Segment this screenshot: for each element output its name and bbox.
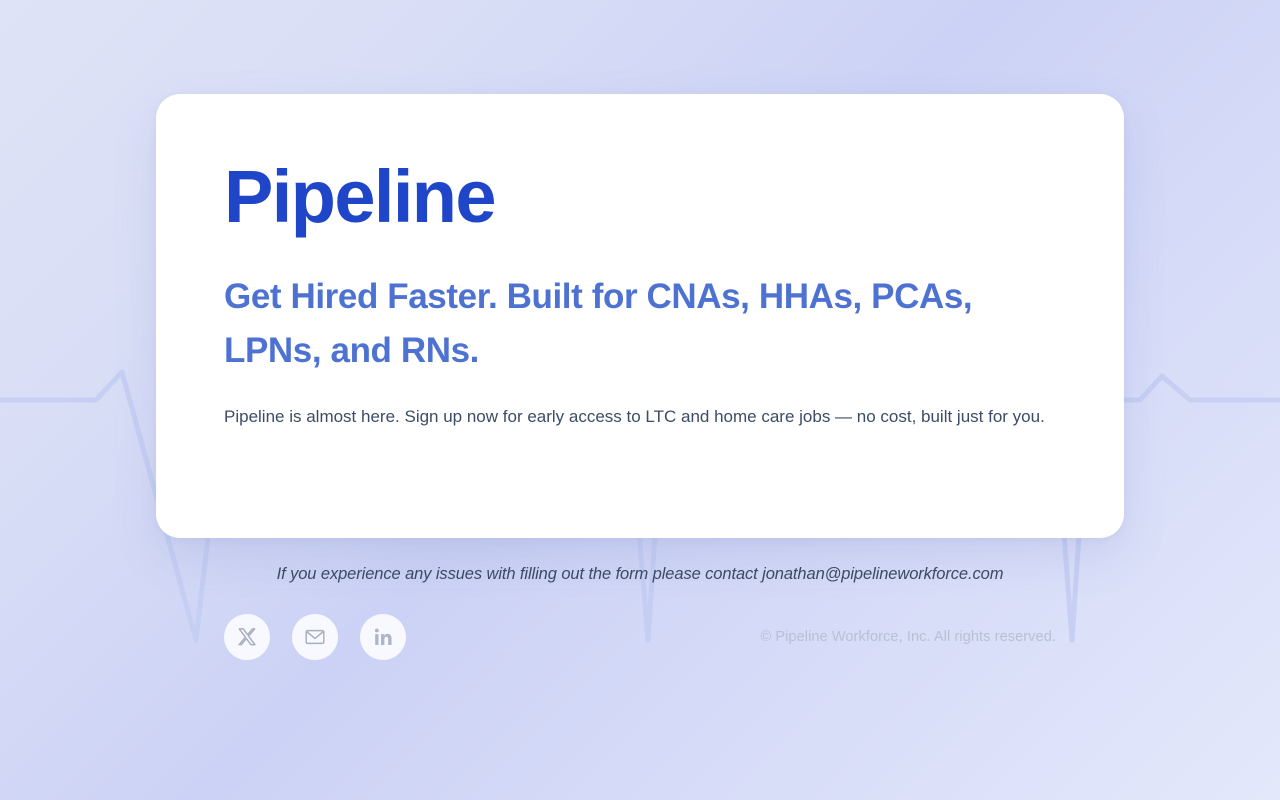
brand-logo-wordmark: Pipeline (224, 160, 1054, 234)
linkedin-icon (373, 627, 394, 648)
social-link-linkedin[interactable] (360, 614, 406, 660)
footer-row: © Pipeline Workforce, Inc. All rights re… (0, 614, 1280, 660)
envelope-icon (304, 626, 326, 648)
social-links (224, 614, 406, 660)
hero-card: Pipeline Get Hired Faster. Built for CNA… (156, 94, 1124, 538)
social-link-email[interactable] (292, 614, 338, 660)
social-link-x-twitter[interactable] (224, 614, 270, 660)
copyright-text: © Pipeline Workforce, Inc. All rights re… (760, 629, 1056, 645)
page-footer: If you experience any issues with fillin… (0, 560, 1280, 660)
x-icon (237, 627, 258, 648)
support-contact-note: If you experience any issues with fillin… (0, 560, 1280, 588)
hero-subcopy: Pipeline is almost here. Sign up now for… (224, 402, 1054, 432)
page-headline: Get Hired Faster. Built for CNAs, HHAs, … (224, 270, 1014, 378)
